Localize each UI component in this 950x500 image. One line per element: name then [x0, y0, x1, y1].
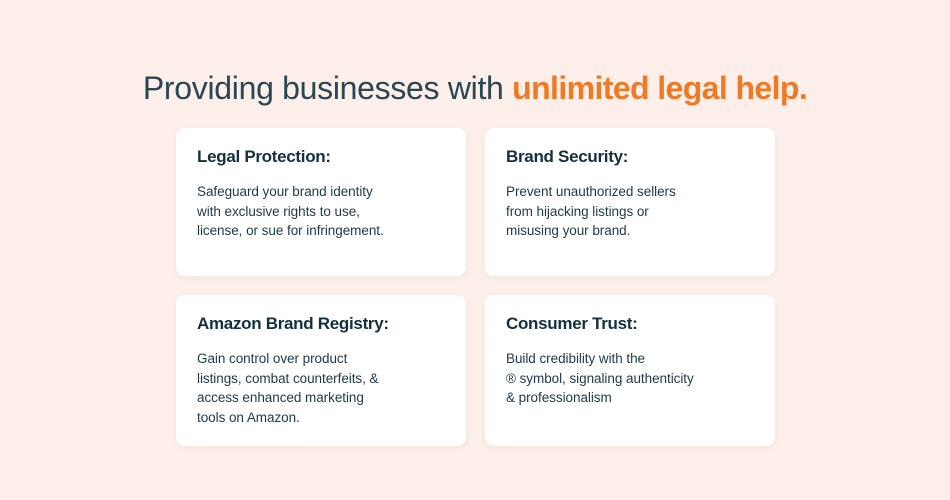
- page-title: Providing businesses with unlimited lega…: [0, 67, 950, 109]
- feature-card-title: Consumer Trust:: [506, 313, 755, 335]
- feature-card-body: Build credibility with the ® symbol, sig…: [506, 349, 755, 408]
- feature-card-title: Legal Protection:: [197, 146, 446, 168]
- feature-card-title: Brand Security:: [506, 146, 755, 168]
- feature-card-body: Prevent unauthorized sellers from hijack…: [506, 182, 755, 241]
- feature-card-body: Safeguard your brand identity with exclu…: [197, 182, 446, 241]
- page-title-accent-part: unlimited legal help.: [512, 70, 807, 106]
- feature-card-legal-protection: Legal Protection: Safeguard your brand i…: [176, 128, 466, 276]
- feature-card-body: Gain control over product listings, comb…: [197, 349, 446, 427]
- feature-card-brand-security: Brand Security: Prevent unauthorized sel…: [485, 128, 775, 276]
- feature-card-title: Amazon Brand Registry:: [197, 313, 446, 335]
- feature-card-amazon-brand-registry: Amazon Brand Registry: Gain control over…: [176, 295, 466, 446]
- feature-card-grid: Legal Protection: Safeguard your brand i…: [176, 128, 775, 446]
- feature-card-consumer-trust: Consumer Trust: Build credibility with t…: [485, 295, 775, 446]
- promo-banner: Providing businesses with unlimited lega…: [0, 0, 950, 500]
- page-title-plain-part: Providing businesses with: [143, 70, 512, 106]
